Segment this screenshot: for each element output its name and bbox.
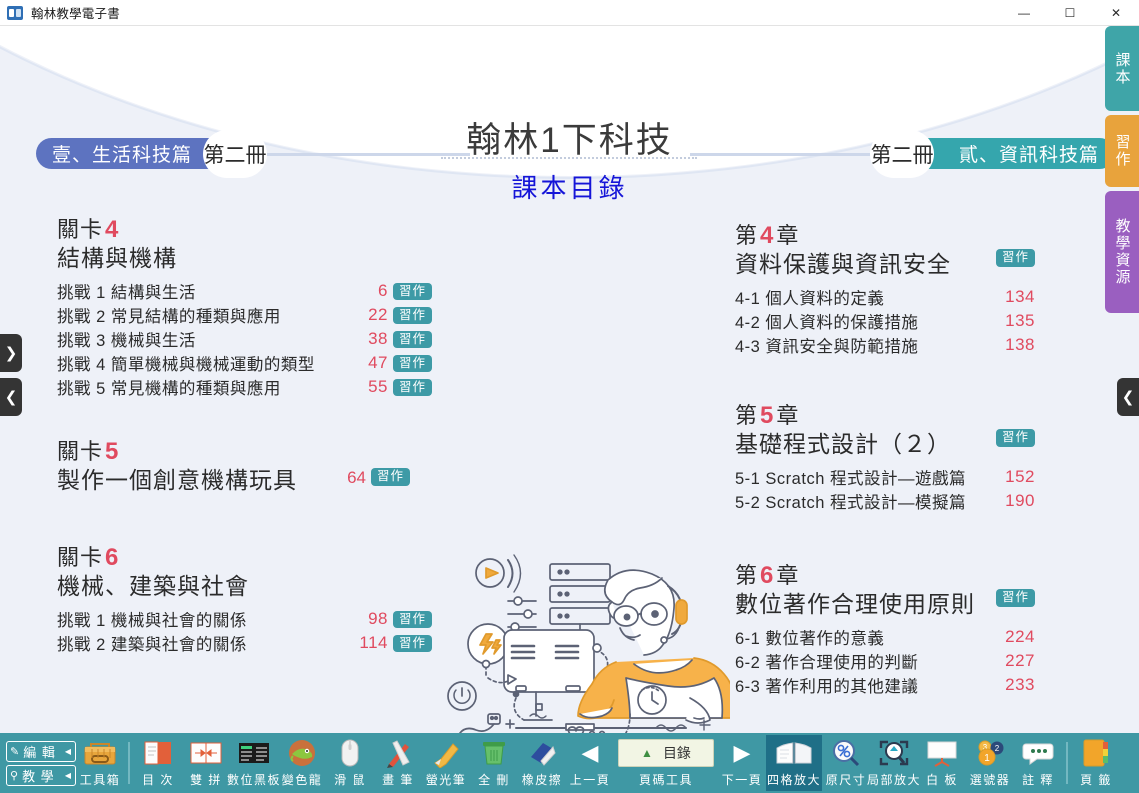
page-value: 目錄 bbox=[663, 743, 691, 763]
toc-entry-page: 98 bbox=[354, 609, 388, 629]
toc-entry-page: 227 bbox=[1001, 651, 1035, 671]
tool-label: 上一頁 bbox=[570, 771, 611, 788]
close-icon[interactable]: ✕ bbox=[1093, 0, 1139, 26]
eraser-icon bbox=[527, 737, 557, 769]
page-header: 壹、生活科技篇 第二冊 貳、資訊科技篇 第二冊 翰林1下科技 課本目錄 bbox=[0, 26, 1139, 201]
triangle-right-icon: ▶ bbox=[734, 737, 751, 769]
toc-entry-label: 6-1 數位著作的意義 bbox=[735, 625, 884, 649]
chevron-left-icon: ◀ bbox=[65, 771, 72, 780]
workbook-badge[interactable]: 習作 bbox=[371, 468, 410, 486]
tool-label: 四格放大 bbox=[767, 771, 821, 788]
toc-entry-page: 190 bbox=[1001, 491, 1035, 511]
page-title: 翰林1下科技 bbox=[0, 112, 1139, 163]
tool-label: 頁碼工具 bbox=[639, 771, 693, 788]
tool-label: 頁 籤 bbox=[1080, 771, 1112, 788]
key-icon: ⚲ bbox=[10, 769, 19, 782]
kicker-prefix: 第 bbox=[735, 563, 758, 588]
triangle-left-icon: ◀ bbox=[582, 737, 599, 769]
kicker-number: 5 bbox=[103, 438, 121, 465]
kicker-prefix: 關卡 bbox=[57, 439, 103, 464]
expand-left-panel-icon[interactable]: ❯ bbox=[0, 334, 22, 372]
svg-text:1: 1 bbox=[984, 753, 990, 764]
number-picker-icon: 3 2 1 bbox=[974, 737, 1006, 769]
tool-actual-size[interactable]: 原尺寸 bbox=[822, 735, 870, 791]
title-bar: 翰林教學電子書 — ☐ ✕ bbox=[0, 0, 1139, 26]
book-page: 壹、生活科技篇 第二冊 貳、資訊科技篇 第二冊 翰林1下科技 課本目錄 關卡4結… bbox=[0, 26, 1139, 733]
mode-switcher: ✎ 編 輯 ◀ ⚲ 教 學 ◀ bbox=[0, 735, 76, 791]
kicker-prefix: 第 bbox=[735, 223, 758, 248]
tool-whiteboard[interactable]: 白 板 bbox=[918, 735, 966, 791]
tool-label: 數位黑板 bbox=[227, 771, 281, 788]
toolbox-icon bbox=[83, 737, 117, 769]
toc-entry-badge-wrap: 習作 bbox=[388, 306, 432, 325]
side-tab-textbook[interactable]: 課本 bbox=[1105, 26, 1139, 111]
annotation-icon bbox=[1022, 737, 1054, 769]
toc-entry[interactable]: 4-2 個人資料的保護措施135 bbox=[735, 309, 1035, 333]
toc-section-title[interactable]: 基礎程式設計（２） bbox=[735, 430, 1035, 460]
actual-size-icon bbox=[831, 737, 861, 769]
highlighter-icon bbox=[431, 737, 461, 769]
kicker-prefix: 第 bbox=[735, 403, 758, 428]
toc-entry[interactable]: 挑戰 2 建築與社會的關係114習作 bbox=[57, 631, 432, 655]
tool-label: 螢光筆 bbox=[426, 771, 467, 788]
toc-entry-page: 134 bbox=[1001, 287, 1035, 307]
digital-blackboard-icon bbox=[237, 737, 271, 769]
tool-dual-page[interactable]: 雙 拼 bbox=[182, 735, 230, 791]
toc-entry[interactable]: 4-1 個人資料的定義134 bbox=[735, 285, 1035, 309]
toc-entry[interactable]: 挑戰 1 機械與社會的關係98習作 bbox=[57, 607, 432, 631]
toc-entry-label: 5-2 Scratch 程式設計—模擬篇 bbox=[735, 489, 966, 513]
kicker-number: 5 bbox=[758, 402, 776, 429]
toc-entry-page: 135 bbox=[1001, 311, 1035, 331]
student-computer-illustration bbox=[420, 538, 730, 733]
tool-chameleon[interactable]: 變色龍 bbox=[278, 735, 326, 791]
toc-entry-label: 4-2 個人資料的保護措施 bbox=[735, 309, 918, 333]
toolbar-separator bbox=[128, 742, 130, 784]
toc-entry-label: 6-2 著作合理使用的判斷 bbox=[735, 649, 918, 673]
collapse-left-panel-icon[interactable]: ❮ bbox=[0, 378, 22, 416]
kicker-prefix: 關卡 bbox=[57, 545, 103, 570]
toc-entry[interactable]: 挑戰 4 簡單機械與機械運動的類型47習作 bbox=[57, 351, 432, 375]
toc-entry[interactable]: 6-1 數位著作的意義224 bbox=[735, 625, 1035, 649]
tool-label: 滑 鼠 bbox=[334, 771, 366, 788]
trash-icon bbox=[481, 737, 507, 769]
kicker-suffix: 章 bbox=[776, 563, 799, 588]
toc-entry-label: 挑戰 2 常見結構的種類與應用 bbox=[57, 303, 281, 327]
page-number-box[interactable]: ▲ 目錄 bbox=[618, 737, 714, 769]
mode-edit-button[interactable]: ✎ 編 輯 ◀ bbox=[6, 741, 76, 762]
toc-section: 第5章基礎程式設計（２）習作5-1 Scratch 程式設計—遊戲篇1525-2… bbox=[735, 402, 1035, 513]
tool-eraser[interactable]: 橡皮擦 bbox=[518, 735, 566, 791]
kicker-number: 4 bbox=[103, 216, 121, 243]
tool-label: 下一頁 bbox=[722, 771, 763, 788]
toc-entry-page: 55 bbox=[354, 377, 388, 397]
tool-label: 白 板 bbox=[926, 771, 958, 788]
toc-entry-label: 挑戰 2 建築與社會的關係 bbox=[57, 631, 247, 655]
tool-label: 局部放大 bbox=[867, 771, 921, 788]
toc-entry-label: 5-1 Scratch 程式設計—遊戲篇 bbox=[735, 465, 966, 489]
application-window: 翰林教學電子書 — ☐ ✕ 壹、生活科技篇 第二冊 貳、資訊科技篇 第二冊 翰林… bbox=[0, 0, 1139, 793]
tool-digital-blackboard[interactable]: 數位黑板 bbox=[230, 735, 278, 791]
workbook-badge[interactable]: 習作 bbox=[996, 429, 1035, 447]
mode-teach-button[interactable]: ⚲ 教 學 ◀ bbox=[6, 765, 76, 786]
tool-bookmark[interactable]: 頁 籤 bbox=[1072, 735, 1120, 791]
tool-partial-zoom[interactable]: 局部放大 bbox=[870, 735, 918, 791]
window-title: 翰林教學電子書 bbox=[31, 3, 120, 22]
toc-entry-label: 4-3 資訊安全與防範措施 bbox=[735, 333, 918, 357]
workbook-badge[interactable]: 習作 bbox=[393, 379, 432, 397]
toc-entry-page: 22 bbox=[354, 305, 388, 325]
toolbar-separator bbox=[1066, 742, 1068, 784]
toc-section-kicker: 關卡6 bbox=[57, 544, 432, 572]
window-controls: — ☐ ✕ bbox=[1001, 0, 1139, 26]
chevron-up-icon[interactable]: ▲ bbox=[641, 746, 653, 760]
toc-section: 關卡4結構與機構挑戰 1 結構與生活6習作挑戰 2 常見結構的種類與應用22習作… bbox=[57, 216, 432, 399]
toc-section-title[interactable]: 資料保護與資訊安全 bbox=[735, 250, 1035, 280]
toc-entry[interactable]: 挑戰 2 常見結構的種類與應用22習作 bbox=[57, 303, 432, 327]
chameleon-icon bbox=[286, 737, 318, 769]
toc-entry-page: 114 bbox=[354, 633, 388, 653]
toc-entry[interactable]: 4-3 資訊安全與防範措施138 bbox=[735, 333, 1035, 357]
bookmark-icon bbox=[1081, 737, 1111, 769]
workbook-badge[interactable]: 習作 bbox=[393, 307, 432, 325]
svg-text:2: 2 bbox=[995, 744, 1000, 753]
toc-entry-label: 4-1 個人資料的定義 bbox=[735, 285, 884, 309]
toc-entry-label: 挑戰 1 結構與生活 bbox=[57, 279, 196, 303]
four-grid-zoom-icon bbox=[774, 737, 814, 769]
toc-section: 關卡6機械、建築與社會挑戰 1 機械與社會的關係98習作挑戰 2 建築與社會的關… bbox=[57, 544, 432, 655]
page-value-box[interactable]: ▲ 目錄 bbox=[618, 739, 714, 767]
toc-entry-badge-wrap: 習作 bbox=[388, 282, 432, 301]
maximize-icon[interactable]: ☐ bbox=[1047, 0, 1093, 26]
toc-section-title[interactable]: 數位著作合理使用原則 bbox=[735, 590, 1035, 620]
toc-section-kicker: 第6章 bbox=[735, 562, 1035, 590]
toc-entry-label: 挑戰 3 機械與生活 bbox=[57, 327, 196, 351]
title-divider bbox=[441, 157, 697, 159]
toc-entry[interactable]: 5-2 Scratch 程式設計—模擬篇190 bbox=[735, 489, 1035, 513]
mouse-icon bbox=[339, 737, 361, 769]
dual-page-icon bbox=[189, 737, 223, 769]
toc-entry[interactable]: 挑戰 3 機械與生活38習作 bbox=[57, 327, 432, 351]
collapse-right-panel-icon[interactable]: ❮ bbox=[1117, 378, 1139, 416]
toc-section-kicker: 第5章 bbox=[735, 402, 1035, 430]
toc-entry-page: 38 bbox=[354, 329, 388, 349]
tool-label: 橡皮擦 bbox=[522, 771, 563, 788]
toc-section-title[interactable]: 結構與機構 bbox=[57, 244, 432, 274]
tool-page-number[interactable]: ▲ 目錄 頁碼工具 bbox=[614, 735, 718, 791]
tool-label: 變色龍 bbox=[282, 771, 323, 788]
toc-entry[interactable]: 6-3 著作利用的其他建議233 bbox=[735, 673, 1035, 697]
tool-table-of-contents[interactable]: 目 次 bbox=[134, 735, 182, 791]
kicker-number: 6 bbox=[758, 562, 776, 589]
kicker-number: 6 bbox=[103, 544, 121, 571]
tool-label: 原尺寸 bbox=[826, 771, 867, 788]
side-tab-workbook[interactable]: 習作 bbox=[1105, 115, 1139, 187]
toc-entry-page: 224 bbox=[1001, 627, 1035, 647]
kicker-suffix: 章 bbox=[776, 223, 799, 248]
toc-entry[interactable]: 6-2 著作合理使用的判斷227 bbox=[735, 649, 1035, 673]
chevron-left-icon: ◀ bbox=[65, 747, 72, 756]
toc-entry-badge-wrap: 習作 bbox=[388, 354, 432, 373]
tool-clear-all[interactable]: 全 刪 bbox=[470, 735, 518, 791]
toc-entry-label: 挑戰 5 常見機構的種類與應用 bbox=[57, 375, 281, 399]
table-of-contents-icon bbox=[143, 737, 173, 769]
toc-entry-page: 47 bbox=[354, 353, 388, 373]
toc-entry-label: 挑戰 4 簡單機械與機械運動的類型 bbox=[57, 351, 315, 375]
pencil-icon: ✎ bbox=[10, 745, 20, 758]
kicker-number: 4 bbox=[758, 222, 776, 249]
book-app-icon bbox=[7, 6, 23, 20]
whiteboard-icon bbox=[925, 737, 959, 769]
toc-section-kicker: 關卡4 bbox=[57, 216, 432, 244]
tool-four-grid-zoom[interactable]: 四格放大 bbox=[766, 735, 822, 791]
toc-section-title[interactable]: 機械、建築與社會 bbox=[57, 572, 432, 602]
workbook-badge[interactable]: 習作 bbox=[393, 283, 432, 301]
tool-label: 工具箱 bbox=[80, 771, 121, 788]
tool-label: 畫 筆 bbox=[382, 771, 414, 788]
minimize-icon[interactable]: — bbox=[1001, 0, 1047, 26]
tool-annotation[interactable]: 註 釋 bbox=[1014, 735, 1062, 791]
toc-entry-page: 233 bbox=[1001, 675, 1035, 695]
toc-entry-label: 6-3 著作利用的其他建議 bbox=[735, 673, 918, 697]
mode-edit-label: 編 輯 bbox=[23, 742, 56, 761]
toc-entry-page: 138 bbox=[1001, 335, 1035, 355]
tool-label: 目 次 bbox=[142, 771, 174, 788]
workbook-badge[interactable]: 習作 bbox=[393, 355, 432, 373]
tool-toolbox[interactable]: 工具箱 bbox=[76, 735, 124, 791]
toc-entry[interactable]: 5-1 Scratch 程式設計—遊戲篇152 bbox=[735, 465, 1035, 489]
toc-section-kicker: 第4章 bbox=[735, 222, 1035, 250]
toc-section: 關卡5製作一個創意機構玩具64習作 bbox=[57, 438, 432, 501]
tool-highlighter[interactable]: 螢光筆 bbox=[422, 735, 470, 791]
tool-label: 雙 拼 bbox=[190, 771, 222, 788]
toc-entry[interactable]: 挑戰 5 常見機構的種類與應用55習作 bbox=[57, 375, 432, 399]
tool-prev-page[interactable]: ◀ 上一頁 bbox=[566, 735, 614, 791]
tool-label: 全 刪 bbox=[478, 771, 510, 788]
tool-label: 選號器 bbox=[970, 771, 1011, 788]
tool-next-page[interactable]: ▶ 下一頁 bbox=[718, 735, 766, 791]
tool-pen[interactable]: 畫 筆 bbox=[374, 735, 422, 791]
toc-section-kicker: 關卡5 bbox=[57, 438, 432, 466]
mode-teach-label: 教 學 bbox=[22, 766, 55, 785]
tool-label: 註 釋 bbox=[1022, 771, 1054, 788]
toc-entry-badge-wrap: 習作 bbox=[388, 330, 432, 349]
pen-icon bbox=[383, 737, 413, 769]
workbook-badge[interactable]: 習作 bbox=[996, 589, 1035, 607]
toc-entry-page: 6 bbox=[354, 281, 388, 301]
toc-entry-page: 152 bbox=[1001, 467, 1035, 487]
tool-mouse[interactable]: 滑 鼠 bbox=[326, 735, 374, 791]
toc-section: 第4章資料保護與資訊安全習作4-1 個人資料的定義1344-2 個人資料的保護措… bbox=[735, 222, 1035, 357]
bottom-toolbar: ✎ 編 輯 ◀ ⚲ 教 學 ◀ 工具箱 bbox=[0, 733, 1139, 793]
workbook-badge[interactable]: 習作 bbox=[996, 249, 1035, 267]
toc-section-page: 64 bbox=[347, 468, 366, 488]
kicker-prefix: 關卡 bbox=[57, 217, 103, 242]
partial-zoom-icon bbox=[878, 737, 910, 769]
side-tab-strip: 課本習作教學資源 bbox=[1105, 26, 1139, 313]
toc-entry[interactable]: 挑戰 1 結構與生活6習作 bbox=[57, 279, 432, 303]
kicker-suffix: 章 bbox=[776, 403, 799, 428]
toc-entry-badge-wrap: 習作 bbox=[388, 378, 432, 397]
workbook-badge[interactable]: 習作 bbox=[393, 331, 432, 349]
side-tab-teaching-resources[interactable]: 教學資源 bbox=[1105, 191, 1139, 313]
toc-section: 第6章數位著作合理使用原則習作6-1 數位著作的意義2246-2 著作合理使用的… bbox=[735, 562, 1035, 697]
page-subtitle: 課本目錄 bbox=[0, 168, 1139, 205]
tool-number-picker[interactable]: 3 2 1 選號器 bbox=[966, 735, 1014, 791]
toc-entry-label: 挑戰 1 機械與社會的關係 bbox=[57, 607, 247, 631]
